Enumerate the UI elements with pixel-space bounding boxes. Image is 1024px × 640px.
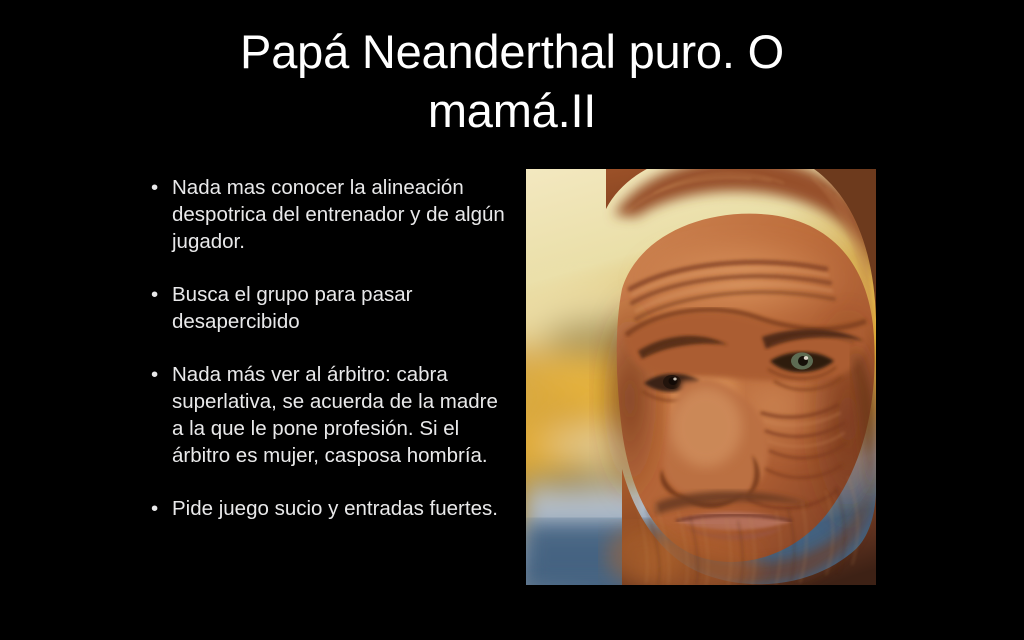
list-item: • Busca el grupo para pasar desapercibid… — [148, 281, 508, 335]
list-item-text: Nada mas conocer la alineación despotric… — [172, 174, 508, 255]
list-item: • Nada más ver al árbitro: cabra superla… — [148, 361, 508, 469]
list-item-text: Pide juego sucio y entradas fuertes. — [172, 495, 508, 522]
neanderthal-photo — [526, 169, 876, 585]
bullet-list: • Nada mas conocer la alineación despotr… — [148, 174, 508, 522]
bullet-marker-icon: • — [151, 174, 165, 201]
list-item-text: Busca el grupo para pasar desapercibido — [172, 281, 508, 335]
bullet-marker-icon: • — [151, 361, 165, 388]
neanderthal-photo-image — [526, 169, 876, 585]
list-item-text: Nada más ver al árbitro: cabra superlati… — [172, 361, 508, 469]
list-item: • Pide juego sucio y entradas fuertes. — [148, 495, 508, 522]
list-item: • Nada mas conocer la alineación despotr… — [148, 174, 508, 255]
bullet-marker-icon: • — [151, 281, 165, 308]
slide: Papá Neanderthal puro. O mamá.II • Nada … — [0, 0, 1024, 640]
bullet-marker-icon: • — [151, 495, 165, 522]
slide-title: Papá Neanderthal puro. O mamá.II — [140, 22, 884, 140]
